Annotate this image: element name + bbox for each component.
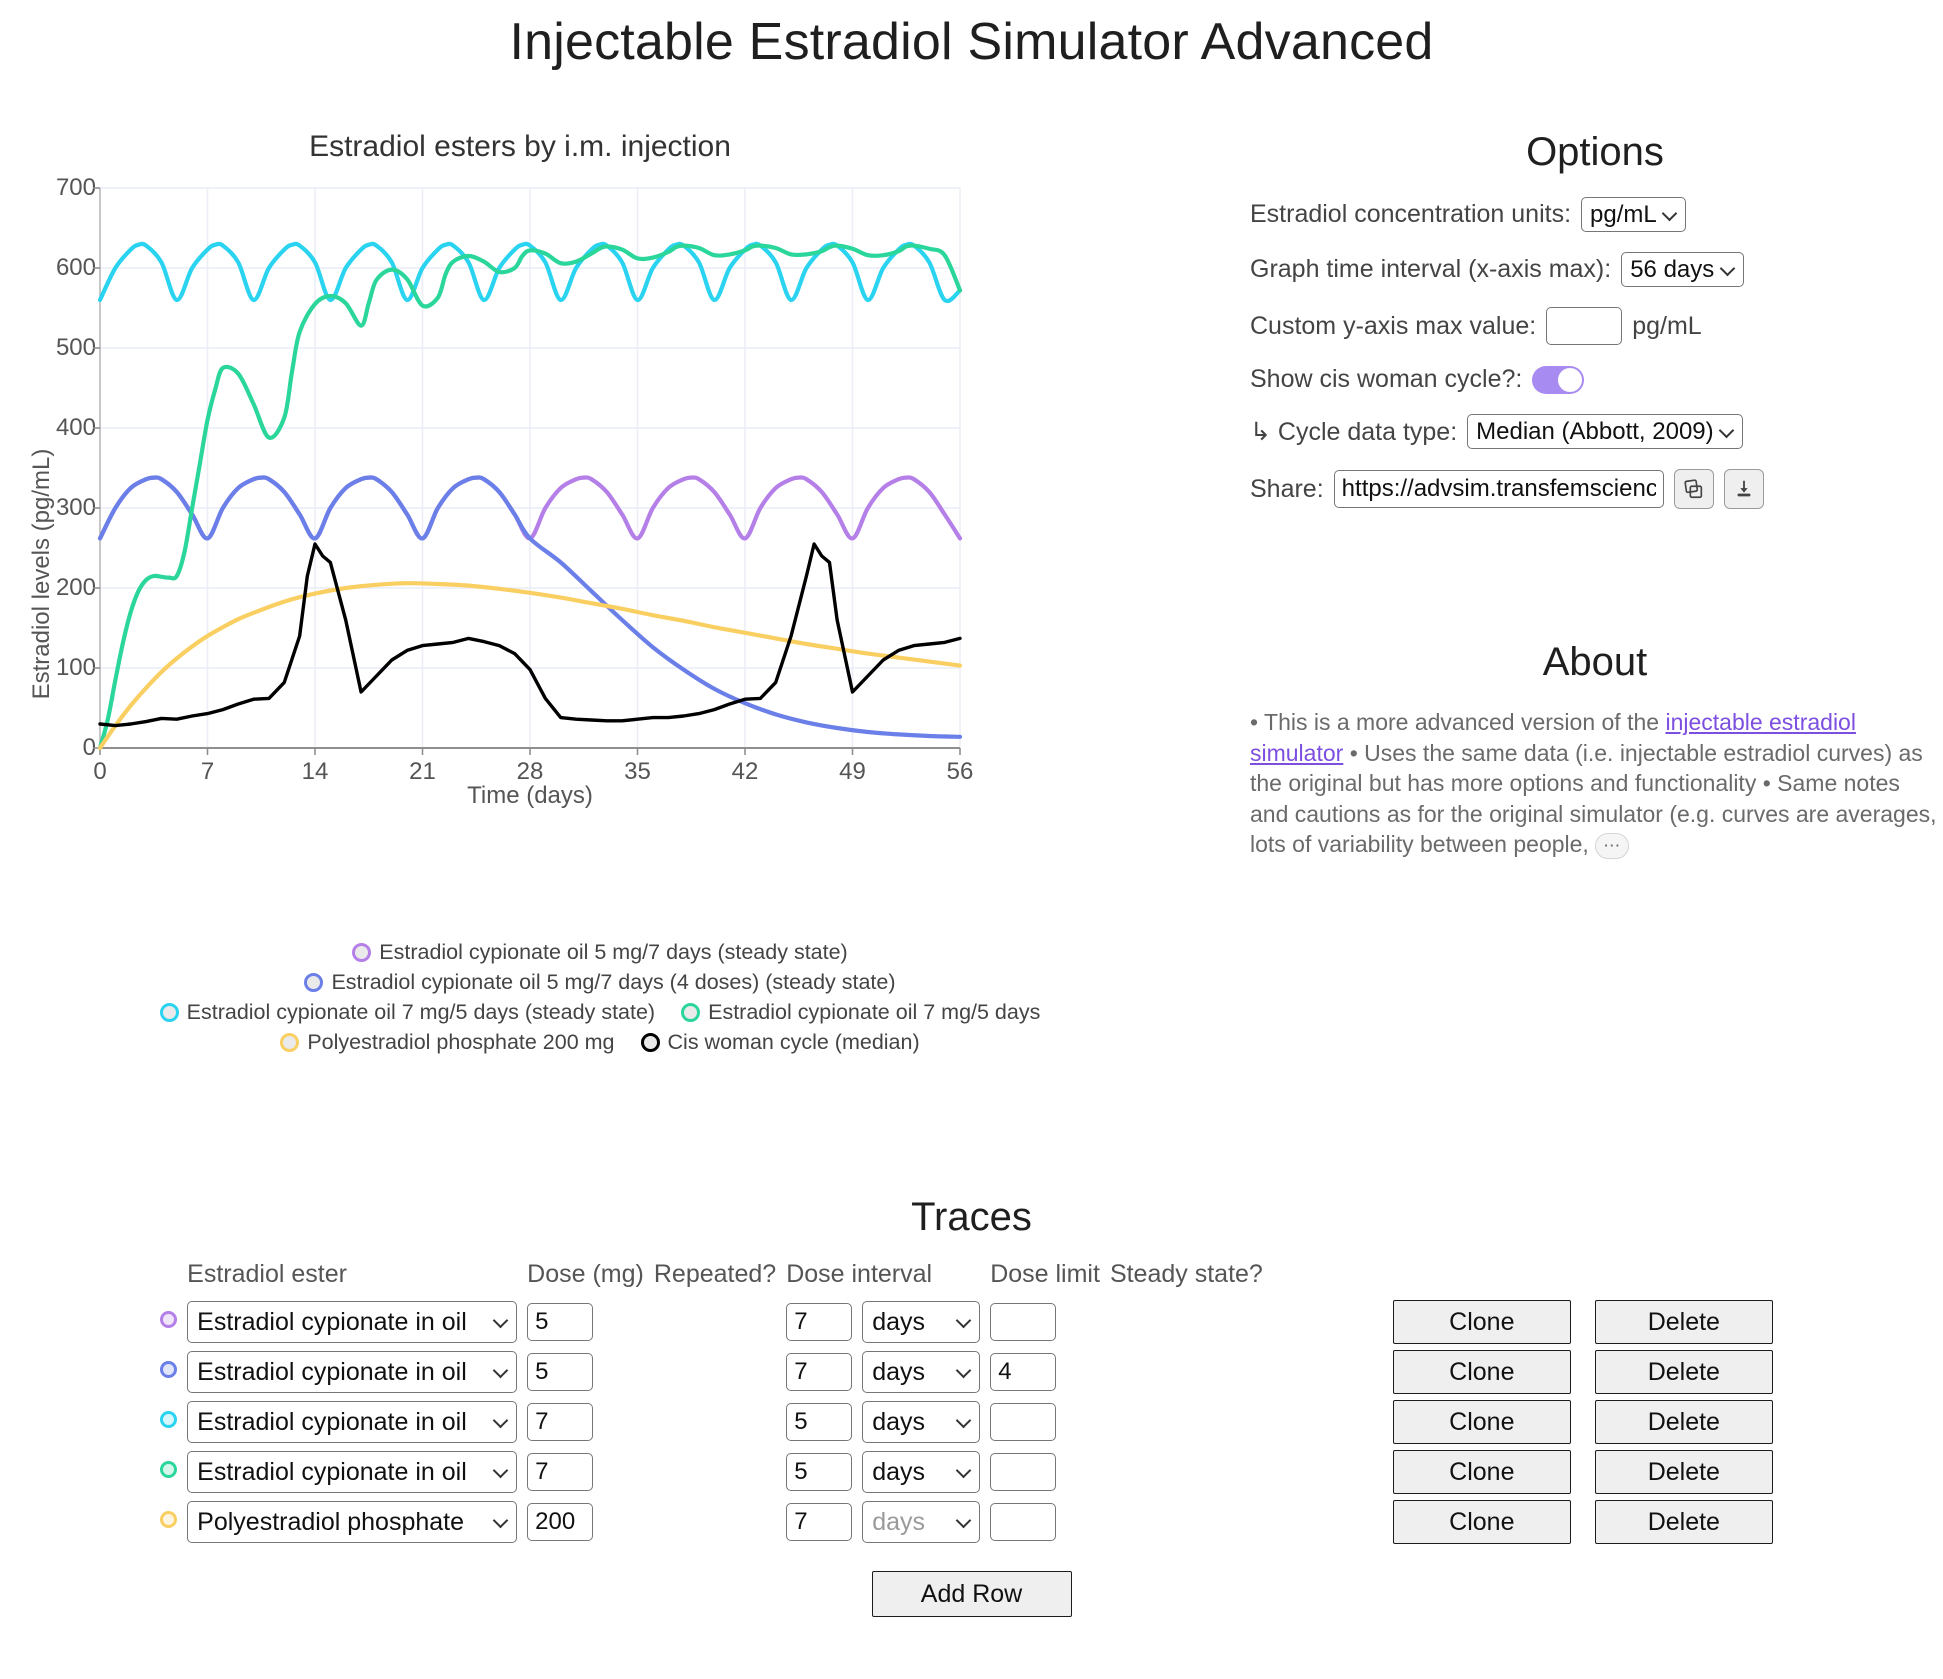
units-select-wrap: pg/mL — [1581, 197, 1686, 232]
page-title: Injectable Estradiol Simulator Advanced — [0, 12, 1943, 72]
steady-cell — [1110, 1497, 1273, 1547]
cycle-toggle-row: Show cis woman cycle?: — [1250, 365, 1940, 394]
traces-section: Traces Estradiol ester Dose (mg) Repeate… — [0, 1195, 1943, 1617]
unit-select-wrap: days — [862, 1401, 980, 1443]
dose-interval-unit-select[interactable]: days — [862, 1401, 980, 1443]
interval-cell — [786, 1347, 862, 1397]
table-row: Estradiol cypionate in oildaysCloneDelet… — [160, 1347, 1783, 1397]
ester-select-wrap: Polyestradiol phosphate — [187, 1501, 517, 1543]
repeated-cell — [654, 1397, 786, 1447]
trace-color-cell — [160, 1347, 187, 1397]
delete-cell: Delete — [1581, 1497, 1783, 1547]
ester-select-wrap: Estradiol cypionate in oil — [187, 1301, 517, 1343]
about-paragraph-2: • Uses the same data (i.e. injectable es… — [1250, 740, 1937, 858]
dose-interval-unit-select: days — [862, 1501, 980, 1543]
plot-area: Estradiol levels (pg/mL) 010020030040050… — [0, 170, 1190, 960]
interval-cell — [786, 1297, 862, 1347]
chart-title: Estradiol esters by i.m. injection — [20, 130, 1020, 164]
repeated-cell — [654, 1347, 786, 1397]
legend-row: Estradiol cypionate oil 5 mg/7 days (ste… — [0, 940, 1200, 965]
ester-select[interactable]: Estradiol cypionate in oil — [187, 1401, 517, 1443]
dose-limit-input[interactable] — [990, 1403, 1056, 1441]
options-heading: Options — [1250, 130, 1940, 175]
x-axis-label: Time (days) — [100, 782, 960, 810]
steady-cell — [1110, 1347, 1273, 1397]
chart-canvas — [0, 170, 1000, 770]
show-cis-cycle-toggle[interactable] — [1532, 366, 1584, 394]
delete-button[interactable]: Delete — [1595, 1500, 1773, 1544]
color-col-header — [160, 1260, 187, 1297]
delete-button[interactable]: Delete — [1595, 1300, 1773, 1344]
share-label: Share: — [1250, 475, 1324, 504]
legend-color-swatch — [681, 1003, 700, 1022]
delete-button[interactable]: Delete — [1595, 1450, 1773, 1494]
legend-label: Estradiol cypionate oil 7 mg/5 days — [708, 1000, 1040, 1025]
dose-input[interactable] — [527, 1403, 593, 1441]
interval-unit-cell: days — [862, 1347, 990, 1397]
graph-interval-select[interactable]: 56 days — [1621, 252, 1744, 287]
legend-color-swatch — [352, 943, 371, 962]
trace-color-swatch — [160, 1361, 177, 1378]
ester-select[interactable]: Estradiol cypionate in oil — [187, 1451, 517, 1493]
col-header-steady: Steady state? — [1110, 1260, 1273, 1297]
legend-item[interactable]: Cis woman cycle (median) — [641, 1030, 920, 1055]
delete-cell: Delete — [1581, 1447, 1783, 1497]
dose-interval-unit-select[interactable]: days — [862, 1451, 980, 1493]
table-row: Polyestradiol phosphatedaysCloneDelete — [160, 1497, 1783, 1547]
trace-color-swatch — [160, 1411, 177, 1428]
add-row-wrap: Add Row — [0, 1571, 1943, 1617]
trace-color-swatch — [160, 1511, 177, 1528]
col-header-actions — [1273, 1260, 1581, 1297]
about-heading: About — [1250, 640, 1940, 685]
units-label: Estradiol concentration units: — [1250, 200, 1571, 229]
interval-unit-cell: days — [862, 1297, 990, 1347]
show-more-icon[interactable]: ⋯ — [1595, 833, 1629, 859]
cycle-type-label: ↳ Cycle data type: — [1250, 417, 1457, 447]
clone-button[interactable]: Clone — [1393, 1400, 1571, 1444]
legend-color-swatch — [280, 1033, 299, 1052]
repeated-cell — [654, 1297, 786, 1347]
legend-label: Estradiol cypionate oil 5 mg/7 days (4 d… — [331, 970, 895, 995]
dose-interval-input[interactable] — [786, 1353, 852, 1391]
dose-input[interactable] — [527, 1303, 593, 1341]
ymax-unit-label: pg/mL — [1632, 312, 1701, 341]
limit-cell — [990, 1497, 1110, 1547]
ester-cell: Polyestradiol phosphate — [187, 1497, 527, 1547]
legend-item[interactable]: Polyestradiol phosphate 200 mg — [280, 1030, 614, 1055]
delete-cell: Delete — [1581, 1347, 1783, 1397]
unit-select-wrap: days — [862, 1501, 980, 1543]
legend-label: Polyestradiol phosphate 200 mg — [307, 1030, 614, 1055]
trace-color-cell — [160, 1497, 187, 1547]
col-header-ester: Estradiol ester — [187, 1260, 527, 1297]
interval-cell — [786, 1447, 862, 1497]
options-panel: Options Estradiol concentration units: p… — [1250, 130, 1940, 529]
dose-input[interactable] — [527, 1353, 593, 1391]
clone-cell: Clone — [1273, 1297, 1581, 1347]
download-icon[interactable] — [1724, 469, 1764, 509]
add-row-button[interactable]: Add Row — [872, 1571, 1072, 1617]
repeated-cell — [654, 1447, 786, 1497]
clone-cell: Clone — [1273, 1397, 1581, 1447]
delete-cell: Delete — [1581, 1297, 1783, 1347]
steady-cell — [1110, 1447, 1273, 1497]
legend-item[interactable]: Estradiol cypionate oil 7 mg/5 days — [681, 1000, 1040, 1025]
ester-cell: Estradiol cypionate in oil — [187, 1297, 527, 1347]
limit-cell — [990, 1447, 1110, 1497]
interval-row: Graph time interval (x-axis max): 56 day… — [1250, 252, 1940, 287]
traces-table-body: Estradiol cypionate in oildaysCloneDelet… — [160, 1297, 1783, 1547]
legend-row: Polyestradiol phosphate 200 mgCis woman … — [0, 1030, 1200, 1055]
about-panel: About • This is a more advanced version … — [1250, 640, 1940, 860]
dose-limit-input[interactable] — [990, 1453, 1056, 1491]
clone-cell: Clone — [1273, 1347, 1581, 1397]
chart-block: Estradiol esters by i.m. injection Estra… — [0, 130, 1190, 960]
col-header-actions2 — [1581, 1260, 1783, 1297]
col-header-interval: Dose interval — [786, 1260, 990, 1297]
custom-ymax-input[interactable] — [1546, 307, 1622, 345]
interval-cell — [786, 1497, 862, 1547]
dose-interval-input[interactable] — [786, 1303, 852, 1341]
table-row: Estradiol cypionate in oildaysCloneDelet… — [160, 1447, 1783, 1497]
interval-select-wrap: 56 days — [1621, 252, 1744, 287]
delete-cell: Delete — [1581, 1397, 1783, 1447]
legend-color-swatch — [641, 1033, 660, 1052]
steady-cell — [1110, 1397, 1273, 1447]
legend-label: Cis woman cycle (median) — [668, 1030, 920, 1055]
ester-cell: Estradiol cypionate in oil — [187, 1347, 527, 1397]
about-text: • This is a more advanced version of the… — [1250, 707, 1940, 860]
dose-limit-input[interactable] — [990, 1353, 1056, 1391]
clone-button[interactable]: Clone — [1393, 1500, 1571, 1544]
trace-color-swatch — [160, 1461, 177, 1478]
dose-interval-input[interactable] — [786, 1403, 852, 1441]
dose-limit-input[interactable] — [990, 1503, 1056, 1541]
legend-color-swatch — [160, 1003, 179, 1022]
col-header-repeated: Repeated? — [654, 1260, 786, 1297]
table-row: Estradiol cypionate in oildaysCloneDelet… — [160, 1297, 1783, 1347]
trace-color-cell — [160, 1297, 187, 1347]
ester-select-wrap: Estradiol cypionate in oil — [187, 1351, 517, 1393]
clone-button[interactable]: Clone — [1393, 1300, 1571, 1344]
units-row: Estradiol concentration units: pg/mL — [1250, 197, 1940, 232]
traces-heading: Traces — [0, 1195, 1943, 1240]
repeated-cell — [654, 1497, 786, 1547]
legend-item[interactable]: Estradiol cypionate oil 7 mg/5 days (ste… — [160, 1000, 655, 1025]
legend-color-swatch — [304, 973, 323, 992]
ester-select[interactable]: Estradiol cypionate in oil — [187, 1351, 517, 1393]
interval-cell — [786, 1397, 862, 1447]
dose-input[interactable] — [527, 1453, 593, 1491]
clone-button[interactable]: Clone — [1393, 1350, 1571, 1394]
cycle-type-select-wrap: Median (Abbott, 2009) — [1467, 414, 1743, 449]
unit-select-wrap: days — [862, 1351, 980, 1393]
trace-color-cell — [160, 1397, 187, 1447]
legend-label: Estradiol cypionate oil 5 mg/7 days (ste… — [379, 940, 847, 965]
ymax-label: Custom y-axis max value: — [1250, 312, 1536, 341]
legend-row: Estradiol cypionate oil 7 mg/5 days (ste… — [0, 1000, 1200, 1025]
ester-cell: Estradiol cypionate in oil — [187, 1447, 527, 1497]
interval-unit-cell: days — [862, 1397, 990, 1447]
legend-item[interactable]: Estradiol cypionate oil 5 mg/7 days (4 d… — [304, 970, 895, 995]
ymax-row: Custom y-axis max value: pg/mL — [1250, 307, 1940, 345]
copy-icon[interactable] — [1674, 469, 1714, 509]
ester-select[interactable]: Estradiol cypionate in oil — [187, 1301, 517, 1343]
table-row: Estradiol cypionate in oildaysCloneDelet… — [160, 1397, 1783, 1447]
traces-table: Estradiol ester Dose (mg) Repeated? Dose… — [160, 1260, 1783, 1547]
dose-limit-input[interactable] — [990, 1303, 1056, 1341]
ester-select[interactable]: Polyestradiol phosphate — [187, 1501, 517, 1543]
dose-cell — [527, 1497, 654, 1547]
ester-cell: Estradiol cypionate in oil — [187, 1397, 527, 1447]
col-header-limit: Dose limit — [990, 1260, 1110, 1297]
unit-select-wrap: days — [862, 1451, 980, 1493]
legend-label: Estradiol cypionate oil 7 mg/5 days (ste… — [187, 1000, 655, 1025]
cycle-data-type-select[interactable]: Median (Abbott, 2009) — [1467, 414, 1743, 449]
cycle-type-row: ↳ Cycle data type: Median (Abbott, 2009) — [1250, 414, 1940, 449]
app-root: Injectable Estradiol Simulator Advanced … — [0, 0, 1943, 1679]
interval-label: Graph time interval (x-axis max): — [1250, 255, 1611, 284]
ester-select-wrap: Estradiol cypionate in oil — [187, 1451, 517, 1493]
interval-unit-cell: days — [862, 1447, 990, 1497]
delete-button[interactable]: Delete — [1595, 1400, 1773, 1444]
delete-button[interactable]: Delete — [1595, 1350, 1773, 1394]
dose-interval-input — [786, 1503, 852, 1541]
traces-header-row: Estradiol ester Dose (mg) Repeated? Dose… — [160, 1260, 1783, 1297]
dose-input[interactable] — [527, 1503, 593, 1541]
steady-cell — [1110, 1297, 1273, 1347]
traces-table-head: Estradiol ester Dose (mg) Repeated? Dose… — [160, 1260, 1783, 1297]
clone-cell: Clone — [1273, 1497, 1581, 1547]
clone-cell: Clone — [1273, 1447, 1581, 1497]
ester-select-wrap: Estradiol cypionate in oil — [187, 1401, 517, 1443]
unit-select-wrap: days — [862, 1301, 980, 1343]
share-row: Share: — [1250, 469, 1940, 509]
dose-interval-unit-select[interactable]: days — [862, 1301, 980, 1343]
legend-row: Estradiol cypionate oil 5 mg/7 days (4 d… — [0, 970, 1200, 995]
trace-color-cell — [160, 1447, 187, 1497]
clone-button[interactable]: Clone — [1393, 1450, 1571, 1494]
dose-interval-input[interactable] — [786, 1453, 852, 1491]
about-paragraph-1: • This is a more advanced version of the — [1250, 709, 1665, 735]
interval-unit-cell: days — [862, 1497, 990, 1547]
share-url-input[interactable] — [1334, 470, 1664, 508]
cycle-toggle-label: Show cis woman cycle?: — [1250, 365, 1522, 394]
dose-interval-unit-select[interactable]: days — [862, 1351, 980, 1393]
col-header-dose: Dose (mg) — [527, 1260, 654, 1297]
trace-color-swatch — [160, 1311, 177, 1328]
legend-item[interactable]: Estradiol cypionate oil 5 mg/7 days (ste… — [352, 940, 847, 965]
chart-legend: Estradiol cypionate oil 5 mg/7 days (ste… — [0, 935, 1200, 1060]
units-select[interactable]: pg/mL — [1581, 197, 1686, 232]
